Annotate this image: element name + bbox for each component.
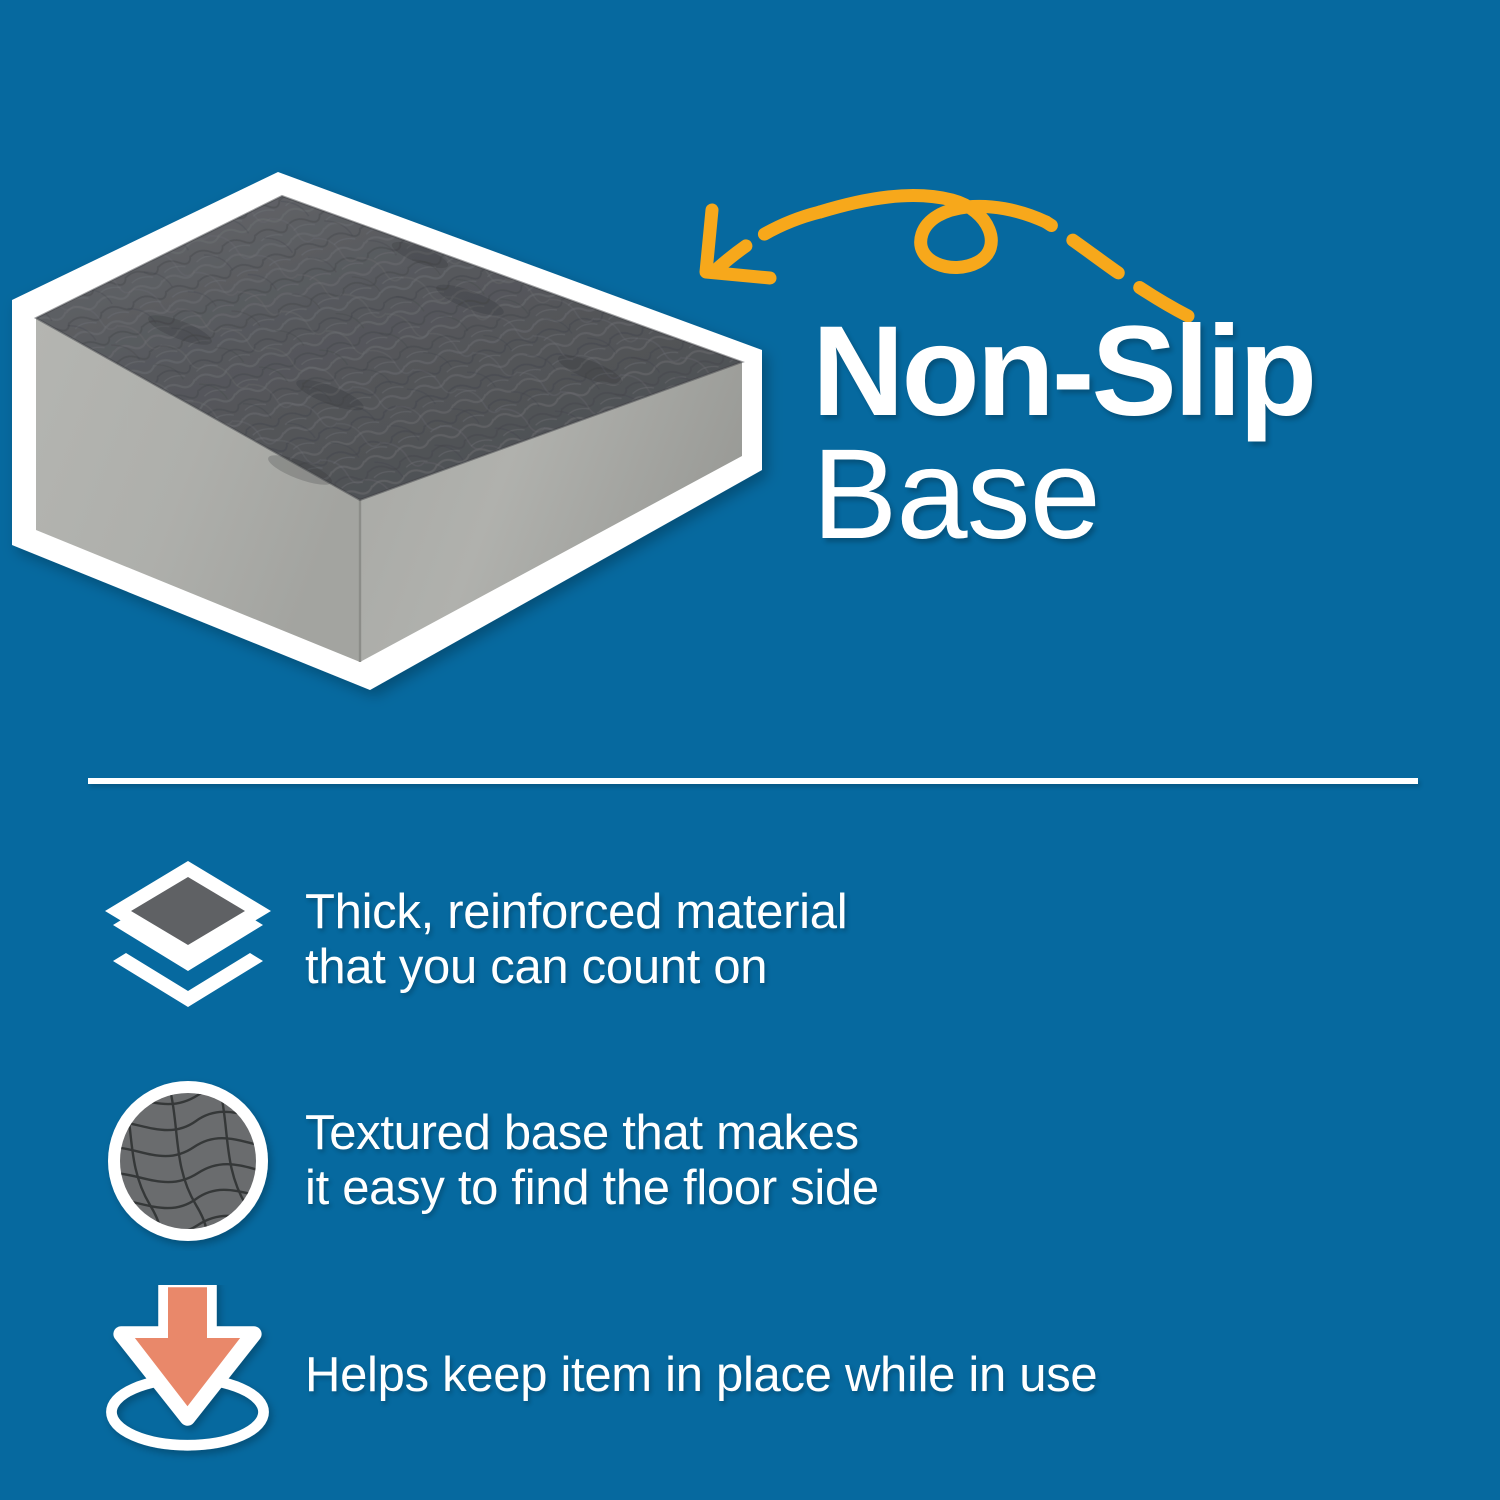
textured-circle-icon <box>90 1071 285 1251</box>
down-arrow-into-ellipse-icon <box>90 1285 285 1465</box>
feature-0-line-0: Thick, reinforced material <box>305 885 847 940</box>
headline-line-1: Non-Slip <box>812 312 1452 431</box>
layers-stack-icon <box>90 855 285 1025</box>
horizontal-divider <box>88 778 1418 784</box>
headline-line-2: Base <box>812 435 1452 554</box>
feature-item-grip: Helps keep item in place while in use <box>0 1280 1500 1470</box>
infographic-page: Non-Slip Base <box>0 0 1500 1500</box>
feature-item-texture: Textured base that makes it easy to find… <box>0 1056 1500 1266</box>
feature-2-line-0: Helps keep item in place while in use <box>305 1348 1097 1403</box>
feature-0-line-1: that you can count on <box>305 940 847 995</box>
feature-text-texture: Textured base that makes it easy to find… <box>285 1106 879 1216</box>
feature-list: Thick, reinforced material that you can … <box>0 840 1500 1470</box>
textured-circle-glyph <box>98 1071 278 1251</box>
feature-1-line-0: Textured base that makes <box>305 1106 879 1161</box>
page-title: Non-Slip Base <box>812 312 1452 554</box>
feature-item-material: Thick, reinforced material that you can … <box>0 840 1500 1040</box>
feature-1-line-1: it easy to find the floor side <box>305 1161 879 1216</box>
box-group <box>12 172 762 690</box>
layers-stack-glyph <box>93 855 283 1025</box>
down-arrow-ellipse-glyph <box>90 1285 285 1465</box>
feature-text-grip: Helps keep item in place while in use <box>285 1348 1097 1403</box>
feature-text-material: Thick, reinforced material that you can … <box>285 885 847 995</box>
